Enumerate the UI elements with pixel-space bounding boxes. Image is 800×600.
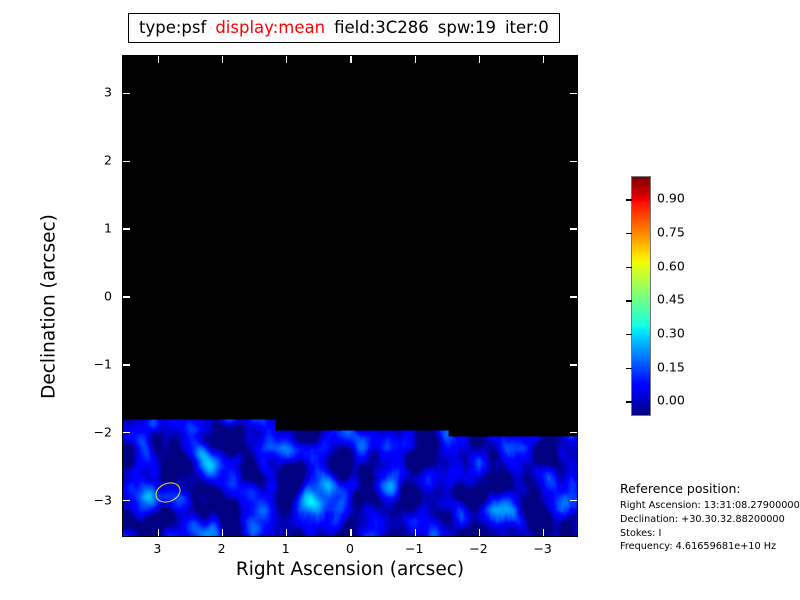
colorbar-tick-label: 0.75 (657, 225, 685, 240)
reference-position-block: Reference position: Right Ascension: 13:… (620, 481, 798, 554)
colorbar-tick (626, 267, 632, 268)
x-axis-tick (350, 56, 351, 63)
y-axis-tick (570, 432, 577, 433)
colorbar-tick (626, 300, 632, 301)
y-axis-tick (570, 296, 577, 297)
y-axis-tick (123, 228, 130, 229)
y-axis-tick (570, 93, 577, 94)
y-axis-tick (570, 364, 577, 365)
y-axis-tick (123, 93, 130, 94)
x-axis-tick-label: −1 (405, 541, 423, 556)
reference-header: Reference position: (620, 481, 798, 496)
colorbar-tick-label: 0.90 (657, 191, 685, 206)
x-axis-tick (479, 56, 480, 63)
title-iter: iter:0 (505, 20, 549, 37)
y-axis-tick (123, 432, 130, 433)
colorbar-tick (626, 334, 632, 335)
colorbar-tick (626, 199, 632, 200)
title-field: field:3C286 (334, 20, 429, 37)
y-axis-tick-label: 1 (78, 221, 112, 236)
y-axis-tick-label: −1 (78, 356, 112, 371)
reference-declination: Declination: +30.30.32.88200000 (620, 513, 798, 527)
y-axis-title: Declination (arcsec) (39, 157, 60, 457)
y-axis-tick-label: −2 (78, 424, 112, 439)
x-axis-tick-label: 0 (346, 541, 354, 556)
x-axis-tick (415, 56, 416, 63)
colorbar-tick-label: 0.15 (657, 359, 685, 374)
x-axis-tick (543, 529, 544, 536)
y-axis-tick-label: 0 (78, 289, 112, 304)
colorbar-tick-label: 0.30 (657, 326, 685, 341)
y-axis-tick-label: −3 (78, 492, 112, 507)
reference-stokes: Stokes: I (620, 527, 798, 541)
colorbar-gradient (632, 177, 650, 415)
colorbar-tick-label: 0.60 (657, 258, 685, 273)
x-axis-tick-label: 1 (282, 541, 290, 556)
colorbar-tick (626, 401, 632, 402)
x-axis-tick (286, 56, 287, 63)
x-axis-tick (158, 56, 159, 63)
y-axis-tick (570, 161, 577, 162)
colorbar-tick (626, 233, 632, 234)
y-axis-tick (570, 500, 577, 501)
y-axis-tick (570, 228, 577, 229)
x-axis-tick-label: −2 (469, 541, 487, 556)
title-type: type:psf (139, 20, 206, 37)
y-axis-tick (123, 364, 130, 365)
y-axis-tick-label: 3 (78, 85, 112, 100)
x-axis-tick (479, 529, 480, 536)
x-axis-tick (415, 529, 416, 536)
psf-image-plot[interactable] (122, 55, 578, 537)
y-axis-tick (123, 500, 130, 501)
psf-heatmap-canvas[interactable] (123, 56, 577, 536)
y-axis-tick (123, 161, 130, 162)
colorbar-tick-label: 0.45 (657, 292, 685, 307)
colorbar-tick-label: 0.00 (657, 393, 685, 408)
reference-right-ascension: Right Ascension: 13:31:08.27900000 (620, 499, 798, 513)
plot-title-box: type:psf display:mean field:3C286 spw:19… (128, 13, 560, 43)
reference-frequency: Frequency: 4.61659681e+10 Hz (620, 540, 798, 554)
x-axis-tick-label: 2 (218, 541, 226, 556)
x-axis-tick-label: 3 (153, 541, 161, 556)
x-axis-tick (350, 529, 351, 536)
x-axis-tick (286, 529, 287, 536)
colorbar-tick (626, 368, 632, 369)
x-axis-tick (543, 56, 544, 63)
title-display: display:mean (215, 20, 325, 37)
x-axis-title: Right Ascension (arcsec) (122, 559, 578, 580)
x-axis-tick (222, 56, 223, 63)
x-axis-tick (158, 529, 159, 536)
x-axis-tick (222, 529, 223, 536)
colorbar[interactable] (631, 176, 651, 416)
x-axis-tick-label: −3 (533, 541, 551, 556)
y-axis-tick-label: 2 (78, 153, 112, 168)
y-axis-tick (123, 296, 130, 297)
title-spw: spw:19 (438, 20, 496, 37)
